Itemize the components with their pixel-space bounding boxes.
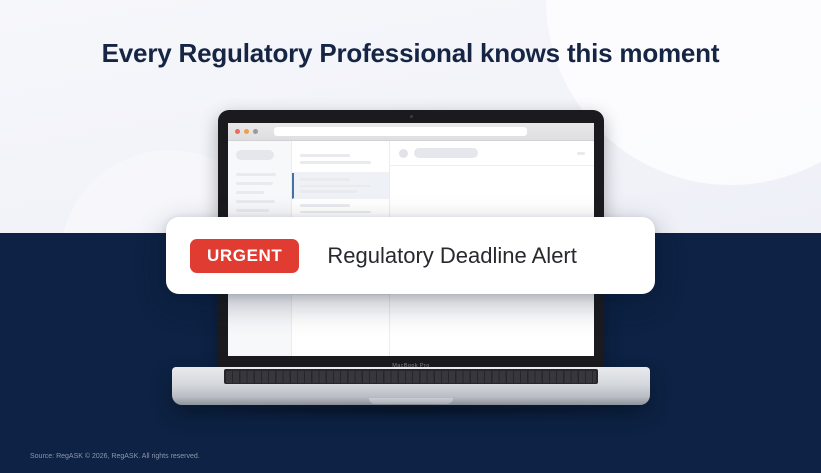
list-item-snippet	[300, 185, 371, 188]
address-bar-input[interactable]	[274, 127, 527, 136]
sidebar-item-placeholder[interactable]	[236, 200, 275, 203]
message-subject-placeholder	[414, 148, 478, 158]
sidebar-item-placeholder[interactable]	[236, 191, 264, 194]
message-detail-header	[390, 141, 594, 166]
list-item-snippet	[300, 161, 371, 164]
sidebar-item-placeholder[interactable]	[236, 182, 273, 185]
list-item-snippet	[300, 211, 371, 214]
page-title: Every Regulatory Professional knows this…	[0, 38, 821, 69]
keyboard-keys	[226, 371, 596, 383]
minimize-icon[interactable]	[244, 129, 249, 134]
webcam-icon	[410, 115, 413, 118]
slide-root: Every Regulatory Professional knows this…	[0, 0, 821, 473]
sidebar-item-placeholder[interactable]	[236, 209, 269, 212]
list-item-title	[300, 178, 350, 181]
list-item-title	[300, 154, 350, 157]
more-options-icon[interactable]	[577, 152, 585, 155]
list-item-title	[300, 204, 350, 207]
laptop-keyboard	[224, 369, 598, 384]
browser-toolbar	[228, 123, 594, 141]
close-icon[interactable]	[235, 129, 240, 134]
alert-card[interactable]: URGENT Regulatory Deadline Alert	[166, 217, 655, 294]
sidebar-compose-button[interactable]	[236, 150, 274, 160]
status-badge: URGENT	[190, 239, 299, 273]
list-item-snippet	[300, 190, 357, 193]
avatar	[399, 149, 408, 158]
maximize-icon[interactable]	[253, 129, 258, 134]
window-controls	[235, 129, 258, 134]
sidebar-item-placeholder[interactable]	[236, 173, 276, 176]
footer-attribution: Source: RegASK © 2026, RegASK. All right…	[30, 453, 200, 460]
alert-title: Regulatory Deadline Alert	[327, 243, 576, 269]
laptop-shadow	[190, 404, 632, 416]
list-item-selected[interactable]	[292, 173, 389, 199]
list-item[interactable]	[292, 149, 389, 173]
